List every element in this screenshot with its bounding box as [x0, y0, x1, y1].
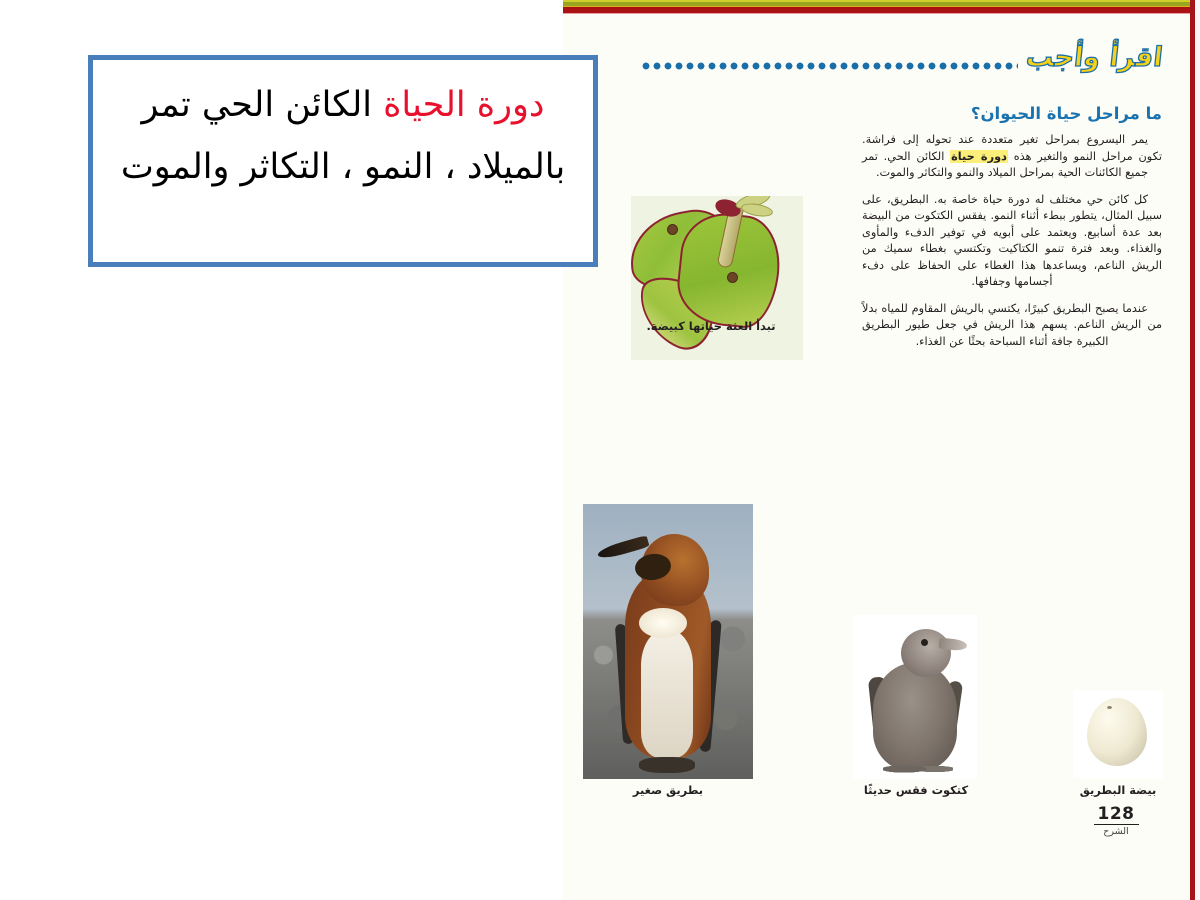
penguin-feet	[639, 757, 695, 773]
chick-feet	[883, 761, 953, 777]
egg-speckle	[1107, 706, 1112, 709]
annotation-term: دورة الحياة	[383, 85, 544, 125]
read-and-answer-header: اقرأ وأجب	[642, 38, 1162, 80]
paragraph-2: كل كائن حي مختلف له دورة حياة خاصة به. ا…	[862, 192, 1162, 291]
young-penguin-photo: M. Brown	[583, 504, 753, 779]
hatched-chick-caption: كتكوت فقس حديثًا	[851, 783, 981, 797]
highlighted-term: دورة حياة	[950, 150, 1008, 163]
penguin-belly	[641, 630, 693, 758]
annotation-text: دورة الحياة الكائن الحي تمر بالميلاد ، ا…	[111, 74, 575, 198]
textbook-page-scan: اقرأ وأجب ما مراحل حياة الحيوان؟ يمر الي…	[563, 0, 1200, 900]
chick-body	[873, 663, 957, 771]
chick-eye	[921, 639, 928, 646]
hatched-chick-photo	[853, 615, 977, 779]
egg-shape	[1087, 698, 1147, 766]
moth-photo	[631, 196, 803, 360]
paragraph-1: يمر اليسروع بمراحل تغير متعددة عند تحوله…	[862, 132, 1162, 182]
question-heading: ما مراحل حياة الحيوان؟	[852, 104, 1162, 123]
band-stripe-pink	[563, 13, 1200, 14]
moth-wing-eyespot-right	[727, 272, 738, 283]
annotation-callout-box: دورة الحياة الكائن الحي تمر بالميلاد ، ا…	[88, 55, 598, 267]
section-title: اقرأ وأجب	[1024, 44, 1164, 74]
article-body: يمر اليسروع بمراحل تغير متعددة عند تحوله…	[862, 132, 1162, 360]
moth-wing-eyespot-left	[667, 224, 678, 235]
chick-head	[901, 629, 951, 677]
moth-caption: تبدأ العثة حياتها كبيضة.	[631, 318, 791, 334]
page-right-margin	[1195, 0, 1200, 900]
page-folio-label: الشرح	[1079, 826, 1153, 837]
penguin-chest-patch	[639, 608, 687, 638]
page-number: 128	[1094, 805, 1139, 825]
dotted-leader-icon	[642, 62, 1018, 71]
penguin-egg-caption: بيضة البطريق	[1059, 783, 1177, 797]
page-top-color-band	[563, 0, 1200, 14]
young-penguin-caption: بطريق صغير	[573, 783, 763, 797]
penguin-egg-photo	[1073, 690, 1163, 778]
paragraph-3: عندما يصبح البطريق كبيرًا، يكتسي بالريش …	[862, 301, 1162, 351]
page-folio: 128 الشرح	[1079, 804, 1153, 837]
